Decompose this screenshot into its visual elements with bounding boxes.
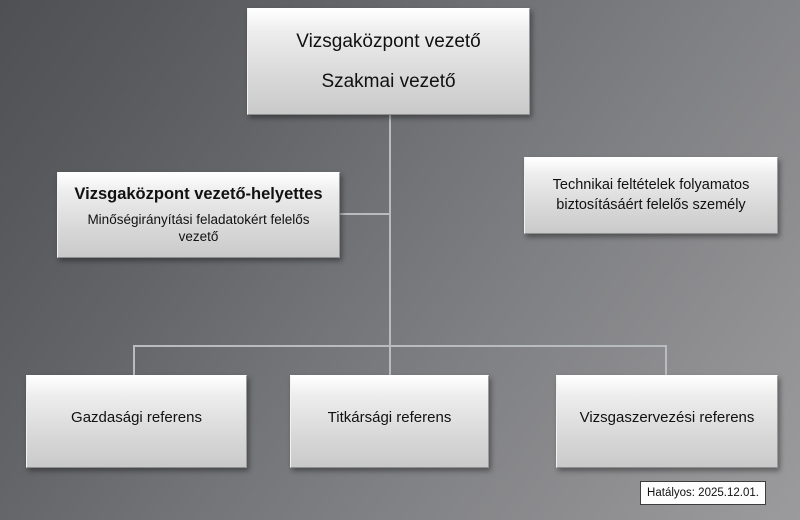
node-root-line-2: Szakmai vezető bbox=[321, 69, 455, 95]
node-technikai-feltetelek[interactable]: Technikai feltételek folyamatos biztosít… bbox=[524, 157, 778, 234]
node-technical-label: Technikai feltételek folyamatos biztosít… bbox=[535, 176, 767, 215]
connector-drop-referent-1 bbox=[389, 345, 391, 376]
node-root-line-1: Vizsgaközpont vezető bbox=[296, 29, 481, 55]
node-gazdasagi-referens[interactable]: Gazdasági referens bbox=[26, 375, 247, 468]
node-referent-label: Vizsgaszervezési referens bbox=[580, 409, 755, 427]
node-vizsgaszervezesi-referens[interactable]: Vizsgaszervezési referens bbox=[556, 375, 778, 468]
connector-referent-bar bbox=[133, 345, 667, 347]
node-deputy-subtitle: Minőségirányítási feladatokért felelős v… bbox=[74, 211, 324, 246]
node-vizsgakozpont-vezeto[interactable]: Vizsgaközpont vezető Szakmai vezető bbox=[247, 8, 530, 115]
connector-drop-referent-2 bbox=[665, 345, 667, 376]
node-referent-label: Titkársági referens bbox=[328, 409, 452, 427]
connector-root-trunk bbox=[389, 115, 391, 346]
node-deputy-title: Vizsgaközpont vezető-helyettes bbox=[74, 184, 322, 205]
connector-deputy-branch bbox=[340, 213, 390, 215]
effective-date-stamp: Hatályos: 2025.12.01. bbox=[640, 481, 766, 505]
org-chart-canvas: Vizsgaközpont vezető Szakmai vezető Vizs… bbox=[0, 0, 800, 520]
node-vezeto-helyettes[interactable]: Vizsgaközpont vezető-helyettes Minőségir… bbox=[57, 172, 340, 258]
node-referent-label: Gazdasági referens bbox=[71, 409, 202, 427]
effective-date-label: Hatályos: 2025.12.01. bbox=[647, 487, 759, 499]
connector-drop-referent-0 bbox=[133, 345, 135, 376]
node-titkarsagi-referens[interactable]: Titkársági referens bbox=[290, 375, 489, 468]
